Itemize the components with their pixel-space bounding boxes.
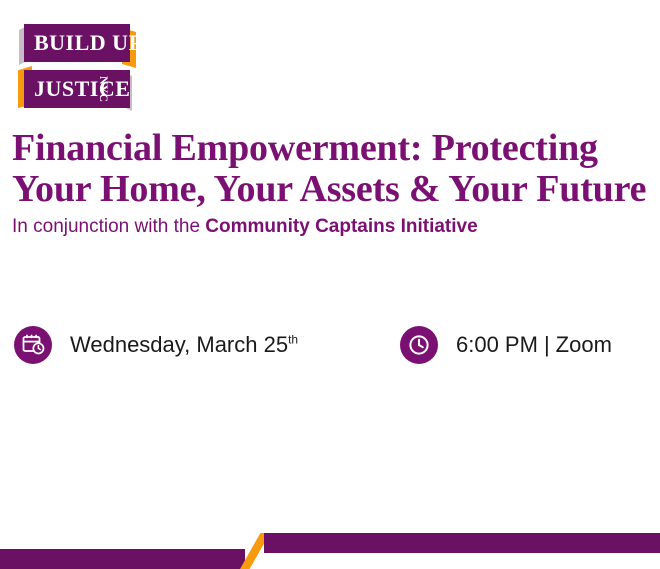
divider-bar-left	[0, 549, 245, 569]
event-title: Financial Empowerment: Protecting Your H…	[12, 128, 658, 210]
divider-bar-right	[264, 533, 660, 553]
event-time-block: 6:00 PM|Zoom	[400, 322, 612, 368]
event-time-separator: |	[538, 332, 556, 357]
event-details-row: Wednesday, March 25th 6:00 PM|Zoom	[0, 322, 660, 372]
event-title-line-1: Financial Empowerment: Protecting	[12, 128, 658, 169]
event-subtitle: In conjunction with the Community Captai…	[12, 215, 478, 239]
event-date-ordinal: th	[288, 333, 298, 347]
event-time-label: 6:00 PM|Zoom	[456, 332, 612, 358]
event-date-block: Wednesday, March 25th	[14, 322, 298, 368]
event-date-text: Wednesday, March 25	[70, 332, 288, 357]
logo-text-build-up: BUILD UP	[34, 31, 143, 55]
event-date-label: Wednesday, March 25th	[70, 332, 298, 358]
clock-icon	[400, 326, 438, 364]
event-subtitle-highlight: Community Captains Initiative	[205, 216, 477, 237]
event-title-line-2: Your Home, Your Assets & Your Future	[12, 169, 658, 210]
build-up-justice-nyc-logo: BUILD UP JUSTICE NYC	[12, 24, 142, 108]
event-platform-text: Zoom	[556, 332, 612, 357]
calendar-clock-icon	[14, 326, 52, 364]
event-flyer: BUILD UP JUSTICE NYC Financial Empowerme…	[0, 0, 660, 433]
event-subtitle-prefix: In conjunction with the	[12, 216, 205, 237]
logo-text-justice: JUSTICE	[34, 77, 130, 101]
event-time-text: 6:00 PM	[456, 332, 538, 357]
decorative-divider	[0, 265, 660, 310]
logo-text-nyc: NYC	[98, 76, 110, 102]
